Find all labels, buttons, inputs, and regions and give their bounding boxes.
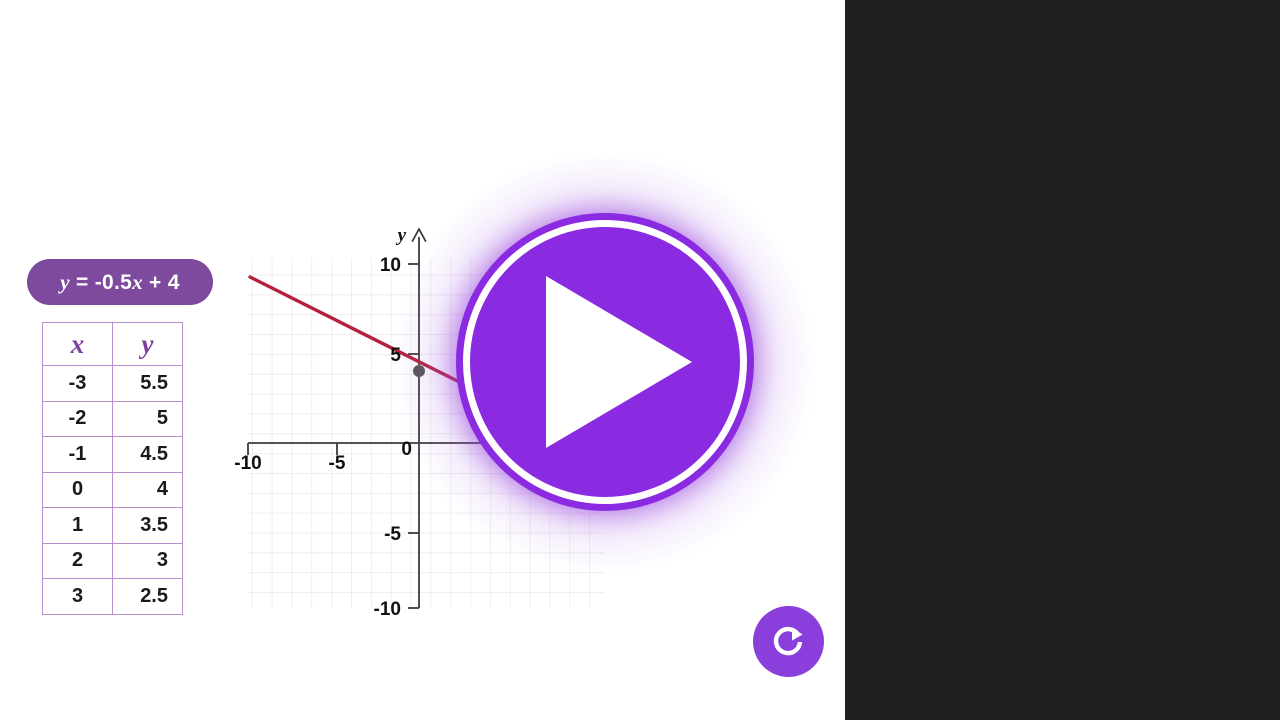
- table-row: 32.5: [43, 579, 183, 615]
- y-axis-label: y: [396, 225, 407, 246]
- table-cell-y: 2.5: [113, 579, 183, 615]
- table-cell-y: 4.5: [113, 437, 183, 473]
- table-cell-x: -2: [43, 401, 113, 437]
- table-cell-x: 1: [43, 508, 113, 544]
- replay-button[interactable]: [753, 606, 824, 677]
- y-intercept-point: [413, 365, 425, 377]
- table-cell-y: 4: [113, 472, 183, 508]
- table-cell-y: 3.5: [113, 508, 183, 544]
- y-tick-label--10: -10: [374, 599, 401, 620]
- xy-value-table: x y -35.5-25-14.50413.52332.5: [42, 322, 183, 615]
- table-body: -35.5-25-14.50413.52332.5: [43, 366, 183, 615]
- table-cell-x: 2: [43, 543, 113, 579]
- table-row: 13.5: [43, 508, 183, 544]
- x-tick-label-0: 0: [401, 439, 412, 460]
- table-row: 04: [43, 472, 183, 508]
- table-cell-y: 3: [113, 543, 183, 579]
- table-cell-x: 3: [43, 579, 113, 615]
- table-header-row: x y: [43, 323, 183, 366]
- play-triangle-icon: [546, 276, 692, 448]
- table-row: -25: [43, 401, 183, 437]
- table-header-y: y: [113, 323, 183, 366]
- table-row: -35.5: [43, 366, 183, 402]
- equation-badge: y = -0.5x + 4: [27, 259, 213, 305]
- equation-text: y = -0.5x + 4: [60, 270, 179, 295]
- y-tick-label-10: 10: [380, 255, 401, 276]
- table-row: -14.5: [43, 437, 183, 473]
- table-cell-x: -1: [43, 437, 113, 473]
- table-cell-x: -3: [43, 366, 113, 402]
- controls-panel: Gradient m -0.5 Intercept c 4: [845, 0, 1280, 720]
- table-cell-x: 0: [43, 472, 113, 508]
- play-button[interactable]: [463, 220, 747, 504]
- x-tick-label--5: -5: [329, 453, 346, 474]
- table-row: 23: [43, 543, 183, 579]
- app-root: y = -0.5x + 4 x y -35.5-25-14.50413.5233…: [0, 0, 1280, 720]
- table-header-x: x: [43, 323, 113, 366]
- graph-canvas-area: y = -0.5x + 4 x y -35.5-25-14.50413.5233…: [0, 0, 845, 720]
- x-tick-label--10: -10: [234, 453, 261, 474]
- table-cell-y: 5: [113, 401, 183, 437]
- y-tick-label--5: -5: [384, 524, 401, 545]
- y-tick-label-5: 5: [390, 345, 401, 366]
- table-cell-y: 5.5: [113, 366, 183, 402]
- replay-icon: [769, 622, 809, 662]
